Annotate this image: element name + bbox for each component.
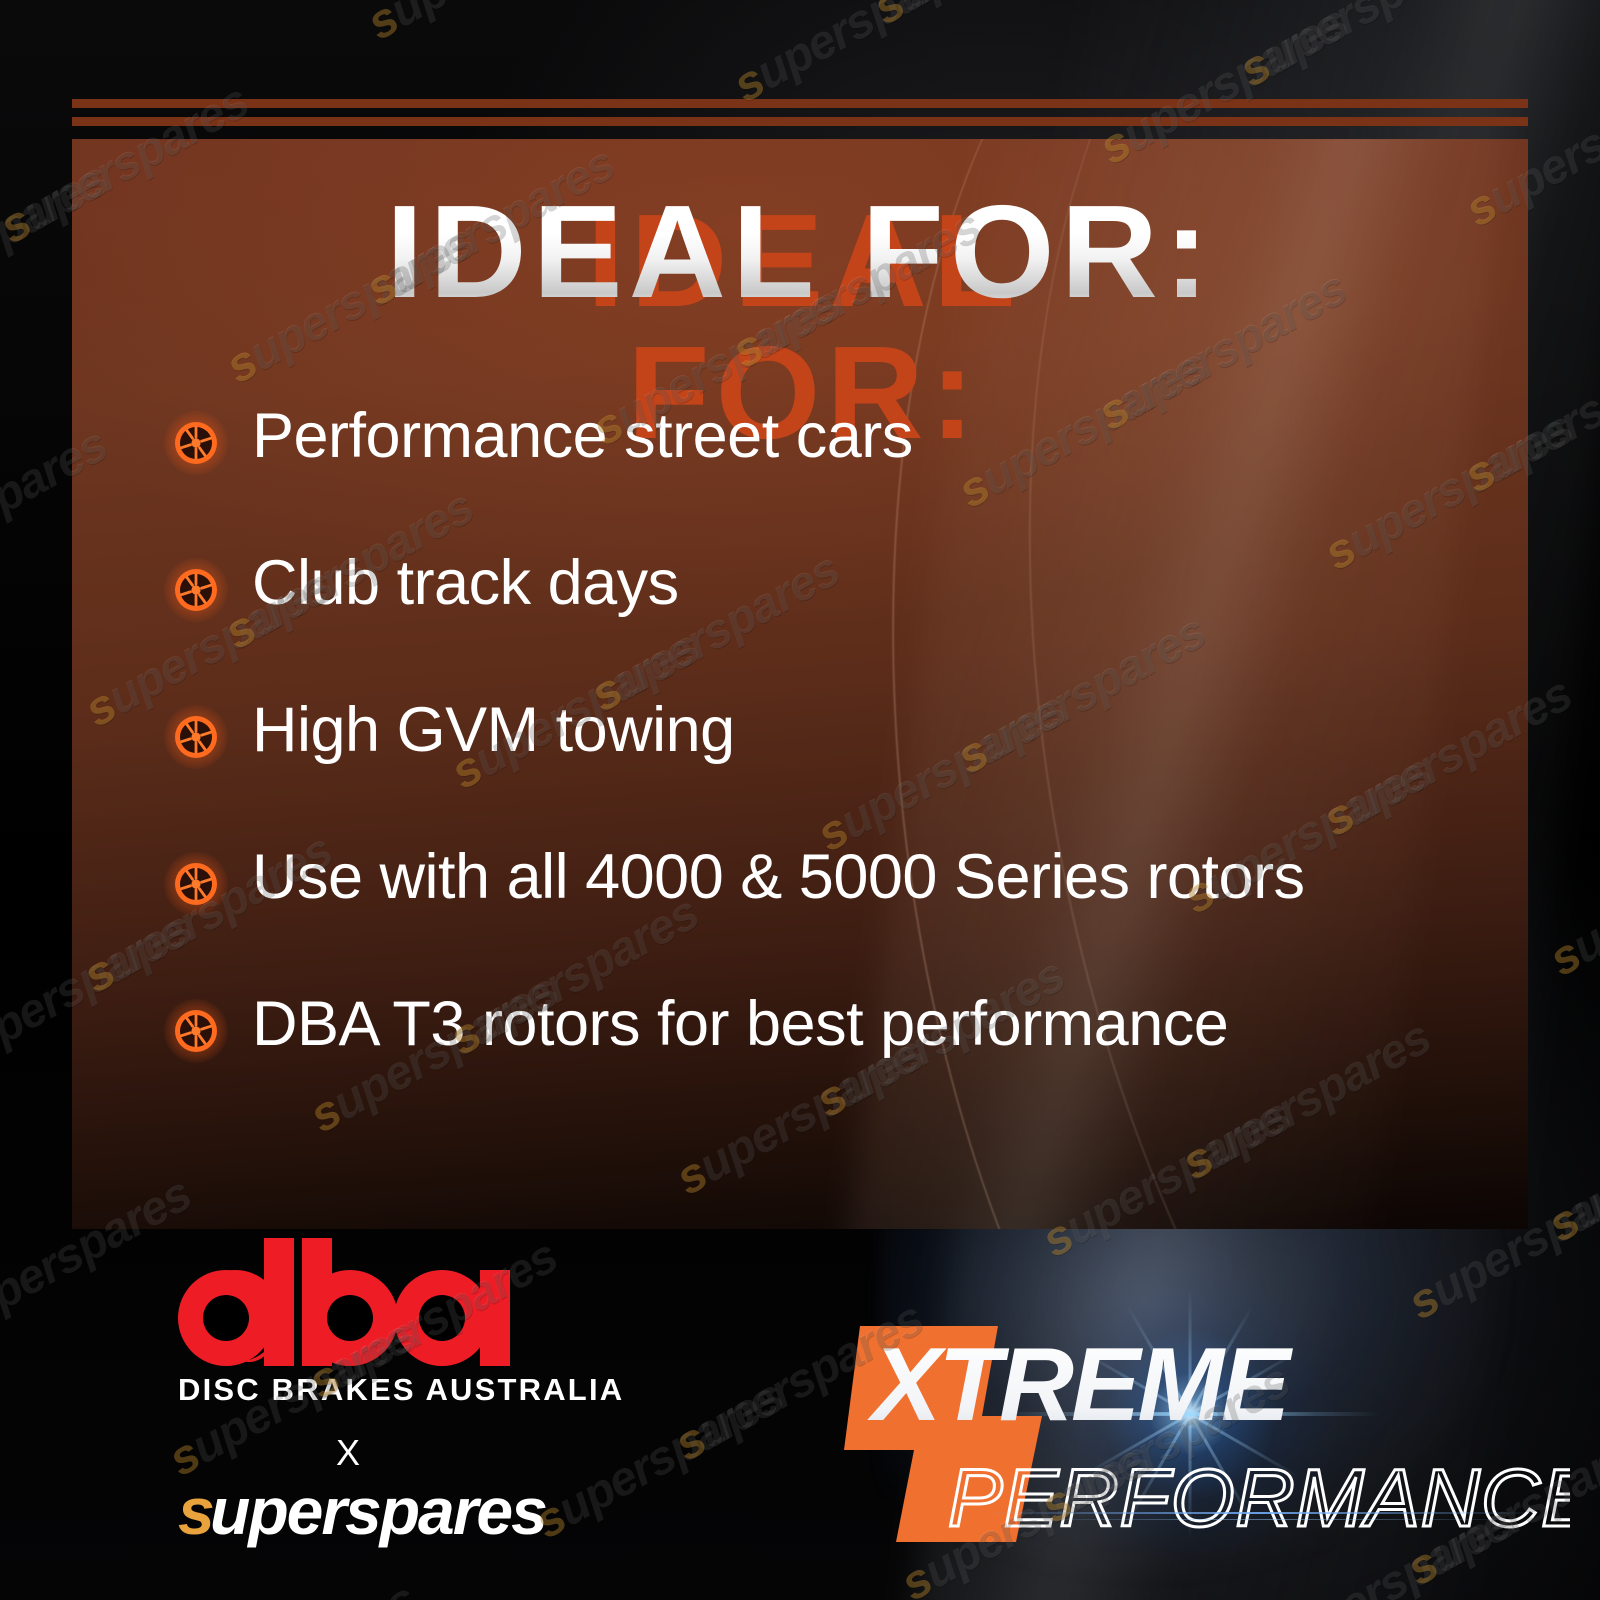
page-title: IDEAL FOR: IDEAL FOR: xyxy=(72,186,1528,318)
promo-banner: IDEAL FOR: IDEAL FOR: xyxy=(0,0,1600,1600)
brake-rotor-wheel-icon xyxy=(170,1005,222,1057)
xtreme-underline-2 xyxy=(1010,1519,1530,1520)
brake-rotor-wheel-icon xyxy=(170,858,222,910)
page-title-text: IDEAL FOR: xyxy=(385,178,1214,325)
logo-divider-x: X xyxy=(178,1432,518,1474)
feature-list: Performance street cars xyxy=(170,405,1500,1140)
xtreme-underline-1 xyxy=(980,1512,1540,1514)
svg-text:PERFORMANCE: PERFORMANCE xyxy=(948,1453,1570,1544)
svg-text:s: s xyxy=(178,1478,213,1548)
top-rule-1 xyxy=(72,99,1528,108)
superspares-logo: s uperspares xyxy=(178,1478,558,1550)
list-item: Club track days xyxy=(170,552,1500,699)
top-rule-2 xyxy=(72,117,1528,126)
list-item-label: Club track days xyxy=(252,552,679,615)
list-item: DBA T3 rotors for best performance xyxy=(170,993,1500,1140)
xtreme-badge-icon: XTREME PERFORMANCE xyxy=(830,1290,1570,1570)
list-item: Performance street cars xyxy=(170,405,1500,552)
brake-rotor-wheel-icon xyxy=(170,711,222,763)
dba-wordmark-icon xyxy=(178,1238,518,1366)
list-item-label: High GVM towing xyxy=(252,699,735,762)
brake-rotor-wheel-icon xyxy=(170,417,222,469)
dba-tagline: DISC BRAKES AUSTRALIA xyxy=(178,1372,518,1408)
svg-text:uperspares: uperspares xyxy=(210,1478,546,1548)
brake-rotor-wheel-icon xyxy=(170,564,222,616)
xtreme-performance-logo: XTREME PERFORMANCE xyxy=(830,1290,1570,1570)
list-item-label: Performance street cars xyxy=(252,405,913,468)
list-item: Use with all 4000 & 5000 Series rotors xyxy=(170,846,1500,993)
dba-logo: DISC BRAKES AUSTRALIA xyxy=(178,1238,518,1408)
list-item: High GVM towing xyxy=(170,699,1500,846)
list-item-label: DBA T3 rotors for best performance xyxy=(252,993,1228,1056)
svg-text:XTREME: XTREME xyxy=(867,1327,1293,1443)
list-item-label: Use with all 4000 & 5000 Series rotors xyxy=(252,846,1305,909)
